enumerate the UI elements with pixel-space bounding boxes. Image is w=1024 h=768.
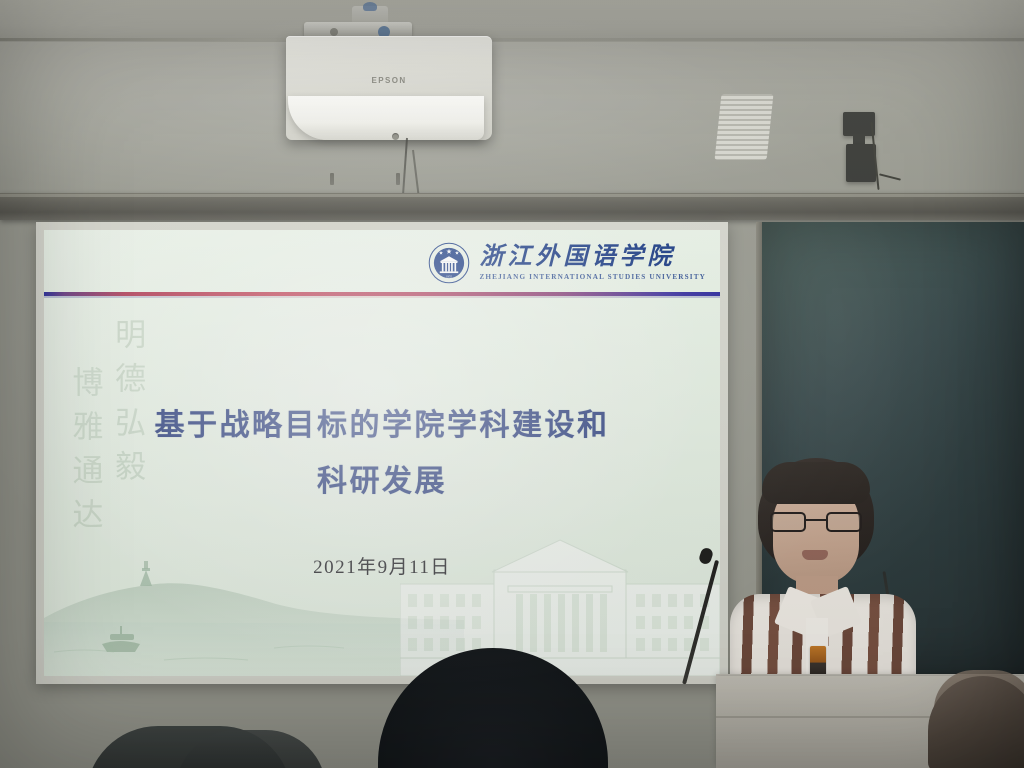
slide-divider-glow — [44, 296, 720, 298]
glasses-lens-left — [770, 512, 806, 532]
glasses-lens-right — [826, 512, 862, 532]
wall-fixture-right — [396, 173, 400, 185]
presentation-slide: 1955 浙江外国语学院 ZHEJIANG INTERNATIONAL STUD… — [44, 230, 720, 676]
slide-title-line-2: 科研发展 — [44, 454, 720, 510]
ceiling — [0, 0, 1024, 42]
projector-vent-grille — [715, 94, 774, 160]
svg-text:1955: 1955 — [447, 274, 453, 278]
ceiling-seam — [0, 38, 1024, 41]
slide-title: 基于战略目标的学院学科建设和 科研发展 — [44, 398, 720, 509]
presenter-mouth — [802, 550, 828, 560]
lecture-hall-scene: EPSON — [0, 0, 1024, 768]
overhead-beam-highlight — [0, 194, 1024, 197]
university-emblem-icon: 1955 — [428, 242, 470, 284]
presenter — [718, 458, 928, 680]
name-badge — [810, 646, 826, 676]
university-name-cn: 浙江外国语学院 — [479, 245, 706, 269]
projector-screw — [392, 133, 399, 140]
projector-mount-knob — [363, 2, 377, 11]
university-name-en: ZHEJIANG INTERNATIONAL STUDIES UNIVERSIT… — [479, 273, 706, 281]
projector-lens-housing — [288, 96, 484, 140]
wall-fixture-left — [330, 173, 334, 185]
campus-building-artwork — [400, 526, 720, 676]
university-logo-row: 1955 浙江外国语学院 ZHEJIANG INTERNATIONAL STUD… — [428, 242, 706, 284]
glasses-bridge — [806, 519, 826, 521]
overhead-beam — [0, 193, 1024, 220]
wall-device-body — [846, 144, 876, 182]
glasses-icon — [770, 512, 862, 532]
projector-brand-label: EPSON — [286, 76, 492, 85]
presenter-bangs — [762, 462, 870, 504]
slide-title-line-1: 基于战略目标的学院学科建设和 — [44, 398, 720, 454]
projector-arm-bolt-secondary — [330, 28, 338, 36]
